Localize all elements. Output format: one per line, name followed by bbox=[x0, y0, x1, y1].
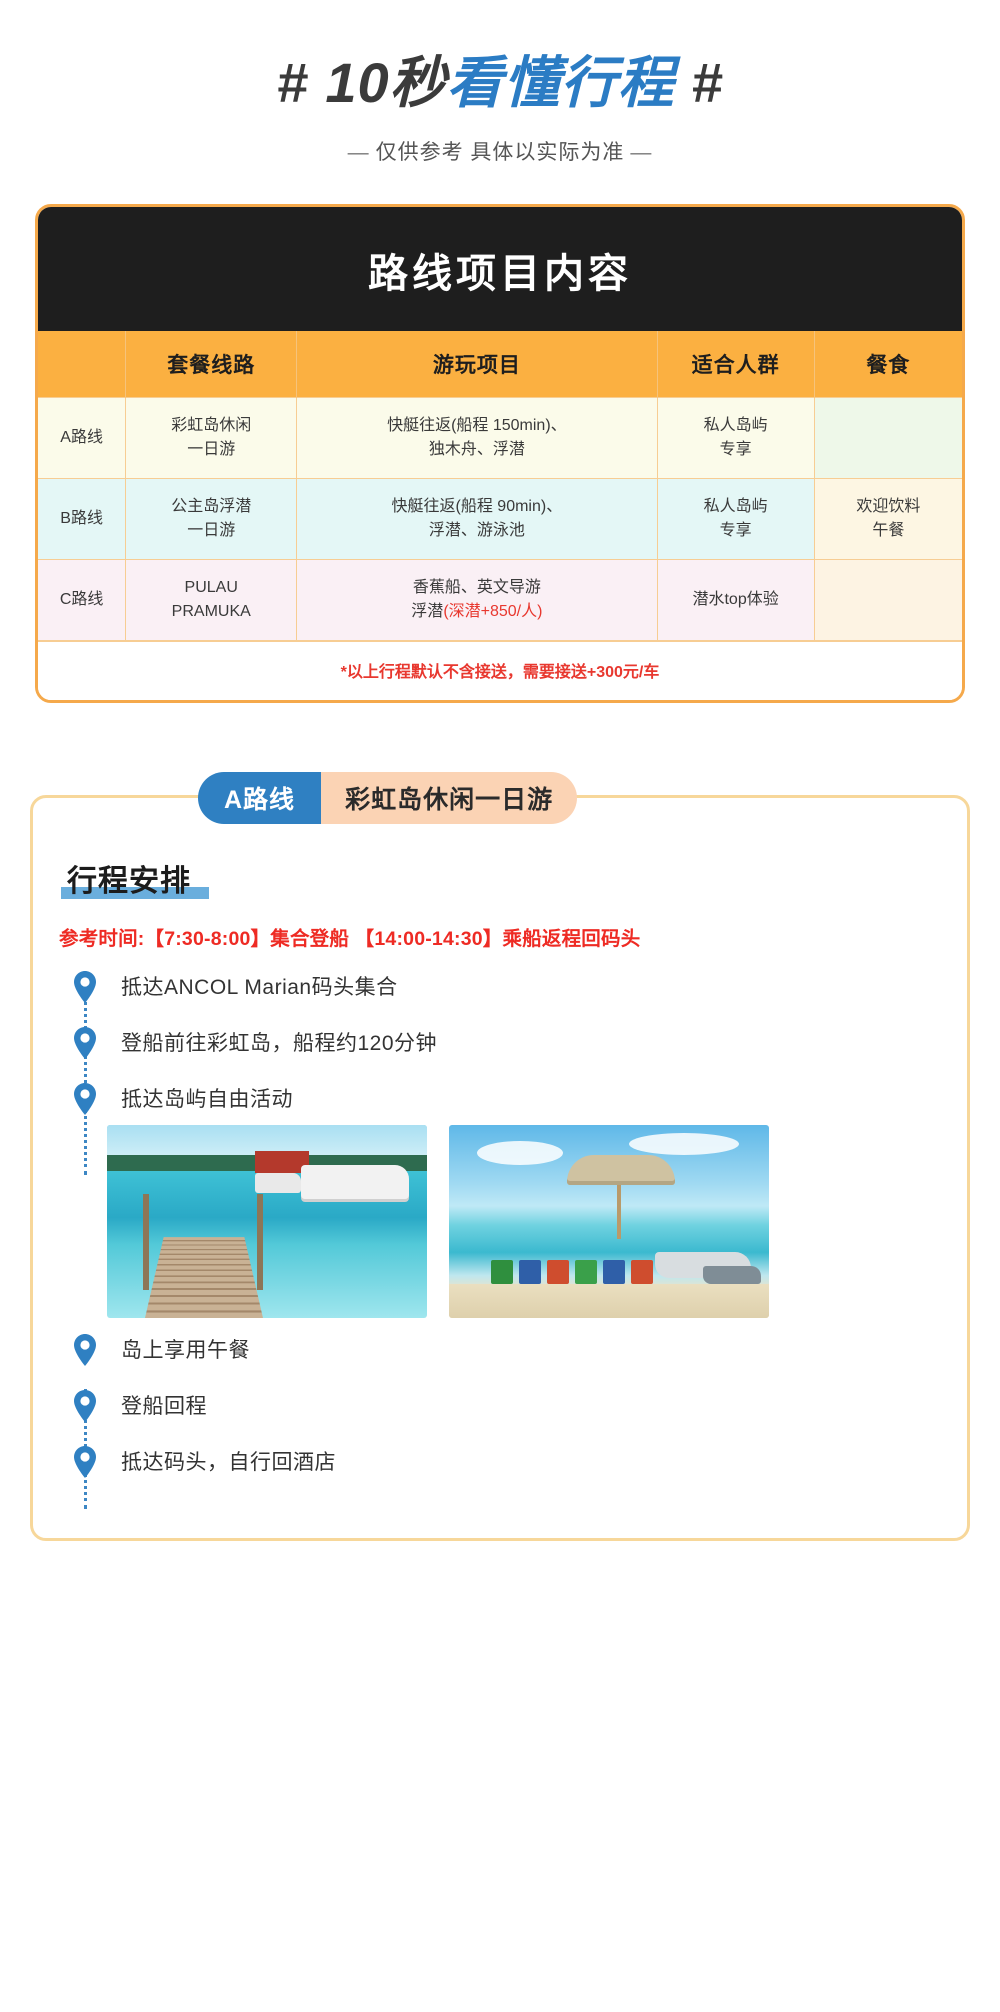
cell-route: A路线 bbox=[38, 397, 126, 478]
cell-activity: 香蕉船、英文导游 浮潜(深潜+850/人) bbox=[297, 559, 657, 640]
photo-beach-chair bbox=[575, 1260, 597, 1284]
subtitle-text: 仅供参考 具体以实际为准 bbox=[376, 141, 625, 164]
route-table-note: *以上行程默认不含接送，需要接送+300元/车 bbox=[38, 640, 962, 700]
route-table-title: 路线项目内容 bbox=[38, 207, 962, 331]
itinerary-header-badge: A路线 彩虹岛休闲一日游 bbox=[198, 772, 577, 824]
list-item: 抵达岛屿自由活动 bbox=[33, 1081, 967, 1115]
location-pin-icon bbox=[73, 1083, 97, 1115]
cell-meal bbox=[814, 397, 962, 478]
photo-cloud bbox=[629, 1133, 739, 1155]
table-row: B路线 公主岛浮潜 一日游 快艇往返(船程 90min)、 浮潜、游泳池 私人岛… bbox=[38, 478, 962, 559]
photo-beach-chair bbox=[491, 1260, 513, 1284]
activity-line-2: 独木舟、浮潜 bbox=[429, 441, 525, 458]
photo-beach-chair bbox=[603, 1260, 625, 1284]
cell-route: B路线 bbox=[38, 478, 126, 559]
location-pin-icon bbox=[73, 1027, 97, 1059]
col-header-meal: 餐食 bbox=[814, 331, 962, 398]
photo-dinghy-shadow bbox=[703, 1266, 761, 1284]
itinerary-photo-row bbox=[33, 1115, 967, 1332]
title-dark-part: 10秒 bbox=[309, 51, 447, 114]
subtitle-dash-left: — bbox=[342, 141, 376, 164]
photo-beach bbox=[449, 1125, 769, 1318]
photo-cloud bbox=[477, 1141, 563, 1165]
location-pin-icon bbox=[73, 971, 97, 1003]
reference-time-note: 参考时间:【7:30-8:00】集合登船 【14:00-14:30】乘船返程回码… bbox=[59, 922, 967, 951]
cell-route: C路线 bbox=[38, 559, 126, 640]
timeline-step-label: 岛上享用午餐 bbox=[107, 1332, 250, 1365]
table-header-row: 套餐线路 游玩项目 适合人群 餐食 bbox=[38, 331, 962, 398]
photo-beach-chair bbox=[547, 1260, 569, 1284]
route-table-card: 路线项目内容 套餐线路 游玩项目 适合人群 餐食 A路线 彩虹岛休闲 一日游 快… bbox=[35, 204, 965, 703]
timeline-gutter bbox=[63, 1332, 107, 1366]
photo-dock-rail-left bbox=[143, 1194, 149, 1290]
suitable-line-1: 私人岛屿 bbox=[704, 498, 768, 515]
page-subtitle: —仅供参考 具体以实际为准— bbox=[0, 136, 1000, 166]
page-title: # 10秒看懂行程 # bbox=[0, 52, 1000, 114]
timeline-gutter bbox=[63, 969, 107, 1003]
suitable-line-1: 潜水top体验 bbox=[692, 591, 778, 608]
list-item: 登船回程 bbox=[33, 1388, 967, 1444]
badge-route-label: A路线 bbox=[198, 772, 321, 824]
photo-beach-chair bbox=[519, 1260, 541, 1284]
cell-package: PULAU PRAMUKA bbox=[126, 559, 297, 640]
timeline-gutter bbox=[63, 1444, 107, 1478]
title-blue-part: 看懂行程 bbox=[447, 51, 675, 114]
title-hash-left: # bbox=[277, 51, 309, 114]
activity-line-1: 快艇往返(船程 90min)、 bbox=[392, 498, 563, 515]
photo-pier bbox=[107, 1125, 427, 1318]
timeline-step-label: 抵达ANCOL Marian码头集合 bbox=[107, 969, 398, 1002]
cell-suitable: 私人岛屿 专享 bbox=[657, 397, 814, 478]
package-line-2: 一日游 bbox=[187, 522, 235, 539]
package-line-1: 公主岛浮潜 bbox=[171, 498, 251, 515]
cell-activity: 快艇往返(船程 90min)、 浮潜、游泳池 bbox=[297, 478, 657, 559]
timeline-step-label: 抵达码头，自行回酒店 bbox=[107, 1444, 336, 1477]
suitable-line-2: 专享 bbox=[720, 522, 752, 539]
photo-beach-chair bbox=[631, 1260, 653, 1284]
page-header: # 10秒看懂行程 # —仅供参考 具体以实际为准— bbox=[0, 0, 1000, 166]
section-title: 行程安排 bbox=[61, 865, 197, 898]
list-item: 岛上享用午餐 bbox=[33, 1332, 967, 1388]
cell-meal bbox=[814, 559, 962, 640]
location-pin-icon bbox=[73, 1334, 97, 1366]
col-header-suitable: 适合人群 bbox=[657, 331, 814, 398]
list-item: 登船前往彩虹岛，船程约120分钟 bbox=[33, 1025, 967, 1081]
photo-umbrella-canopy bbox=[567, 1155, 675, 1185]
itinerary-timeline: 抵达ANCOL Marian码头集合 登船前往彩虹岛，船程约120分钟 抵达岛屿… bbox=[33, 969, 967, 1478]
list-item: 抵达ANCOL Marian码头集合 bbox=[33, 969, 967, 1025]
cell-meal: 欢迎饮料 午餐 bbox=[814, 478, 962, 559]
activity-line-2: 浮潜、游泳池 bbox=[429, 522, 525, 539]
meal-line-1: 欢迎饮料 bbox=[856, 498, 920, 515]
photo-small-boat bbox=[255, 1173, 301, 1193]
table-row: C路线 PULAU PRAMUKA 香蕉船、英文导游 浮潜(深潜+850/人) … bbox=[38, 559, 962, 640]
badge-route-name: 彩虹岛休闲一日游 bbox=[321, 772, 577, 824]
photo-dock-rail-right bbox=[257, 1194, 263, 1290]
cell-package: 彩虹岛休闲 一日游 bbox=[126, 397, 297, 478]
package-line-1: 彩虹岛休闲 bbox=[171, 417, 251, 434]
route-table: 套餐线路 游玩项目 适合人群 餐食 A路线 彩虹岛休闲 一日游 快艇往返(船程 … bbox=[38, 331, 962, 640]
timeline-gutter bbox=[63, 1025, 107, 1059]
cell-suitable: 私人岛屿 专享 bbox=[657, 478, 814, 559]
timeline-gutter bbox=[63, 1388, 107, 1422]
col-header-route bbox=[38, 331, 126, 398]
subtitle-dash-right: — bbox=[624, 141, 658, 164]
package-line-1: PULAU bbox=[185, 579, 238, 596]
timeline-step-label: 抵达岛屿自由活动 bbox=[107, 1081, 293, 1114]
col-header-package: 套餐线路 bbox=[126, 331, 297, 398]
meal-line-2: 午餐 bbox=[872, 522, 904, 539]
activity-line-2: 浮潜 bbox=[411, 603, 443, 620]
title-hash-right: # bbox=[675, 51, 724, 114]
section-title-wrap: 行程安排 bbox=[61, 856, 197, 900]
list-item: 抵达码头，自行回酒店 bbox=[33, 1444, 967, 1478]
col-header-activity: 游玩项目 bbox=[297, 331, 657, 398]
timeline-step-label: 登船前往彩虹岛，船程约120分钟 bbox=[107, 1025, 437, 1058]
timeline-gutter bbox=[63, 1081, 107, 1115]
itinerary-card: A路线 彩虹岛休闲一日游 行程安排 参考时间:【7:30-8:00】集合登船 【… bbox=[30, 795, 970, 1541]
cell-activity: 快艇往返(船程 150min)、 独木舟、浮潜 bbox=[297, 397, 657, 478]
location-pin-icon bbox=[73, 1446, 97, 1478]
activity-price-note: (深潜+850/人) bbox=[443, 603, 542, 620]
photo-speedboat bbox=[301, 1165, 409, 1199]
location-pin-icon bbox=[73, 1390, 97, 1422]
table-row: A路线 彩虹岛休闲 一日游 快艇往返(船程 150min)、 独木舟、浮潜 私人… bbox=[38, 397, 962, 478]
activity-line-1: 快艇往返(船程 150min)、 bbox=[387, 417, 567, 434]
cell-package: 公主岛浮潜 一日游 bbox=[126, 478, 297, 559]
timeline-step-label: 登船回程 bbox=[107, 1388, 207, 1421]
package-line-2: PRAMUKA bbox=[172, 603, 251, 620]
package-line-2: 一日游 bbox=[187, 441, 235, 458]
photo-sandbar bbox=[449, 1284, 769, 1318]
suitable-line-2: 专享 bbox=[720, 441, 752, 458]
cell-suitable: 潜水top体验 bbox=[657, 559, 814, 640]
photo-wooden-dock bbox=[145, 1237, 263, 1318]
activity-line-1: 香蕉船、英文导游 bbox=[413, 579, 541, 596]
suitable-line-1: 私人岛屿 bbox=[704, 417, 768, 434]
